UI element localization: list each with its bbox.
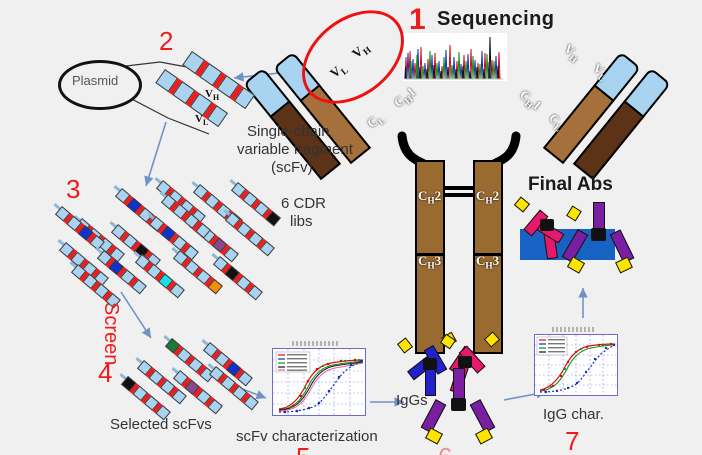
scfv-characterization-plot	[272, 348, 366, 416]
label-screen: Screen	[99, 302, 122, 365]
domain-CH2-left	[415, 160, 445, 255]
igg-characterization-plot	[534, 334, 618, 396]
step-number-6: 6	[438, 444, 452, 455]
step-number-5: 5	[296, 444, 310, 455]
antibody-engineering-workflow-diagram: 1 Sequencing VL VH CL CH1	[0, 0, 702, 455]
selected-scfv-cluster	[130, 336, 240, 404]
label-selected-scfvs: Selected scFvs	[110, 416, 212, 433]
scfv-plot-svg	[273, 349, 365, 415]
label-scfv-line2: variable fragment	[237, 141, 353, 158]
scfv-plot-title-squiggle	[292, 341, 338, 346]
label-plasmid: Plasmid	[72, 74, 118, 89]
scfv-label-VH: VH	[205, 88, 219, 102]
step-number-4: 4	[98, 360, 112, 386]
domain-CH2-right	[473, 160, 503, 255]
label-cdr-line2: libs	[290, 213, 313, 230]
final-abs-cluster	[515, 200, 640, 290]
igg-plot-title-squiggle	[552, 327, 594, 332]
cdr-library-cluster	[60, 178, 290, 298]
label-final-abs: Final Abs	[528, 174, 613, 196]
label-scfv-line1: Single-chain	[247, 123, 330, 140]
final-antibody-purple	[573, 214, 635, 286]
label-scfv-line3: (scFv)	[271, 159, 313, 176]
label-iggs: IgGs	[396, 392, 428, 409]
label-cdr-line1: 6 CDR	[281, 195, 326, 212]
label-igg-char: IgG char.	[543, 406, 604, 423]
scfv-label-VL: VL	[195, 113, 208, 127]
step-number-7: 7	[565, 428, 579, 454]
step-number-2: 2	[159, 28, 173, 54]
domain-CH3-left	[415, 254, 445, 354]
igg-antibody-purple	[427, 382, 497, 444]
igg-plot-svg	[535, 335, 617, 395]
